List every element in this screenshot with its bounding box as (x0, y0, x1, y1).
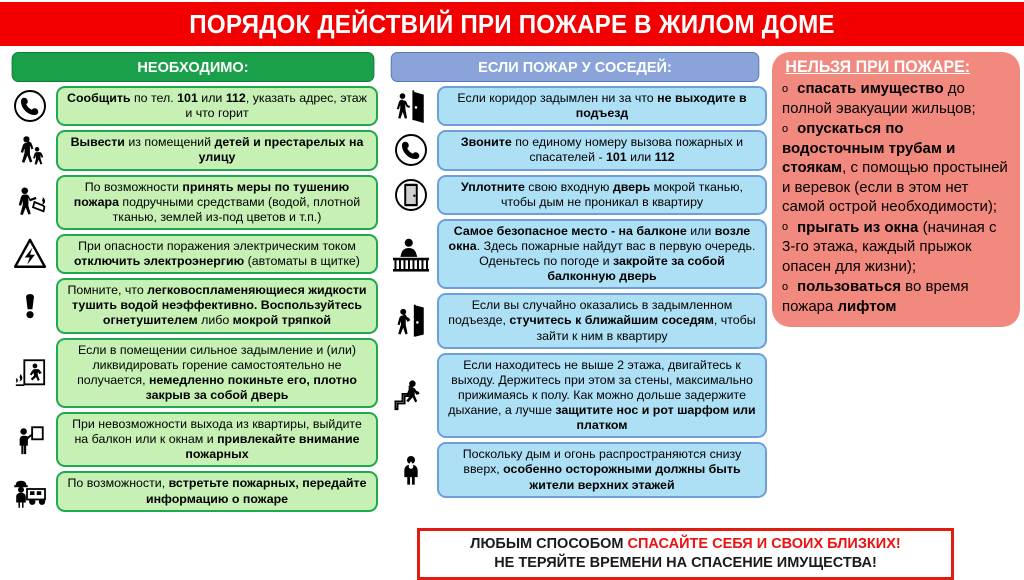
advice-text: Поскольку дым и огонь распространяются с… (437, 442, 767, 497)
advice-text: При опасности поражения электрическим то… (56, 234, 378, 274)
list-item: Звоните по единому номеру вызова пожарны… (385, 130, 767, 170)
forbidden-item: oопускаться по водосточным трубам и стоя… (782, 119, 1010, 217)
person-extinguishing-fire-icon (4, 184, 56, 220)
bottom-callout: ЛЮБЫМ СПОСОБОМ СПАСАЙТЕ СЕБЯ И СВОИХ БЛИ… (417, 528, 954, 580)
list-item: Самое безопасное место - на балконе или … (385, 219, 767, 290)
bullet-icon: o (782, 83, 788, 95)
section-heading-neighbors: ЕСЛИ ПОЖАР У СОСЕДЕЙ: (391, 52, 760, 82)
advice-text: Если коридор задымлен ни за что не выход… (437, 86, 767, 126)
advice-text: Сообщить по тел. 101 или 112, указать ад… (56, 86, 378, 126)
forbidden-item: oпрыгать из окна (начиная с 3-го этажа, … (782, 218, 1010, 277)
list-item: По возможности принять меры по тушению п… (4, 175, 378, 230)
list-item: Если коридор задымлен ни за что не выход… (385, 86, 767, 126)
advice-text: Уплотните свою входную дверь мокрой ткан… (437, 175, 767, 215)
forbidden-item: oспасать имущество до полной эвакуации ж… (782, 79, 1010, 118)
advice-text: Самое безопасное место - на балконе или … (437, 219, 767, 290)
person-at-open-door-icon (385, 88, 437, 124)
list-item: Если вы случайно оказались в задымленном… (385, 293, 767, 348)
neighbors-items-list: Если коридор задымлен ни за что не выход… (385, 86, 767, 498)
necessary-items-list: Сообщить по тел. 101 или 112, указать ад… (4, 86, 378, 512)
bullet-icon: o (782, 221, 788, 233)
person-on-balcony-icon (385, 236, 437, 272)
list-item: Сообщить по тел. 101 или 112, указать ад… (4, 86, 378, 126)
advice-text: Если в помещении сильное задымление и (и… (56, 338, 378, 409)
closed-door-icon (385, 177, 437, 213)
callout-line-2: НЕ ТЕРЯЙТЕ ВРЕМЕНИ НА СПАСЕНИЕ ИМУЩЕСТВА… (426, 554, 945, 573)
column-necessary: НЕОБХОДИМО: Сообщить по тел. 101 или 112… (4, 52, 378, 512)
person-on-stairs-icon (385, 377, 437, 413)
callout-line-1-prefix: ЛЮБЫМ СПОСОБОМ (470, 536, 627, 552)
list-item: Уплотните свою входную дверь мокрой ткан… (385, 175, 767, 215)
telephone-icon (4, 88, 56, 124)
callout-line-1-highlight: СПАСАЙТЕ СЕБЯ И СВОИХ БЛИЗКИХ! (628, 536, 901, 552)
electric-hazard-icon (4, 237, 56, 271)
advice-text: Если находитесь не выше 2 этажа, двигайт… (437, 353, 767, 439)
page-title-banner: ПОРЯДОК ДЕЙСТВИЙ ПРИ ПОЖАРЕ В ЖИЛОМ ДОМЕ (0, 2, 1024, 46)
list-item: При опасности поражения электрическим то… (4, 234, 378, 274)
list-item: Поскольку дым и огонь распространяются с… (385, 442, 767, 497)
bullet-icon: o (782, 123, 788, 135)
list-item: Если в помещении сильное задымление и (и… (4, 338, 378, 409)
advice-text: Если вы случайно оказались в задымленном… (437, 293, 767, 348)
advice-text: По возможности, встретьте пожарных, пере… (56, 471, 378, 511)
advice-text: Звоните по единому номеру вызова пожарны… (437, 130, 767, 170)
advice-text: По возможности принять меры по тушению п… (56, 175, 378, 230)
adult-leading-child-icon (4, 133, 56, 167)
forbidden-items-list: oспасать имущество до полной эвакуации ж… (782, 79, 1010, 316)
advice-text: При невозможности выхода из квартиры, вы… (56, 412, 378, 467)
callout-line-1: ЛЮБЫМ СПОСОБОМ СПАСАЙТЕ СЕБЯ И СВОИХ БЛИ… (426, 535, 945, 554)
forbidden-item: oпользоваться во время пожара лифтом (782, 277, 1010, 316)
section-heading-forbidden: НЕЛЬЗЯ ПРИ ПОЖАРЕ: (785, 58, 1006, 77)
section-heading-necessary-label: НЕОБХОДИМО: (137, 59, 248, 76)
list-item: По возможности, встретьте пожарных, пере… (4, 471, 378, 511)
exclamation-mark-icon (4, 286, 56, 326)
person-at-window-icon (4, 422, 56, 458)
page-title: ПОРЯДОК ДЕЙСТВИЙ ПРИ ПОЖАРЕ В ЖИЛОМ ДОМЕ (189, 9, 834, 40)
section-heading-neighbors-label: ЕСЛИ ПОЖАР У СОСЕДЕЙ: (478, 59, 672, 76)
list-item: Помните, что легковоспламеняющиеся жидко… (4, 278, 378, 333)
list-item: Вывести из помещений детей и престарелых… (4, 130, 378, 170)
advice-text: Помните, что легковоспламеняющиеся жидко… (56, 278, 378, 333)
forbidden-panel: НЕЛЬЗЯ ПРИ ПОЖАРЕ: oспасать имущество до… (772, 52, 1020, 327)
telephone-icon (385, 132, 437, 168)
section-heading-necessary: НЕОБХОДИМО: (12, 52, 375, 82)
firefighter-truck-icon (4, 474, 56, 510)
column-forbidden: НЕЛЬЗЯ ПРИ ПОЖАРЕ: oспасать имущество до… (772, 52, 1020, 327)
list-item: Если находитесь не выше 2 этажа, двигайт… (385, 353, 767, 439)
person-knocking-door-icon (385, 302, 437, 340)
column-neighbors-fire: ЕСЛИ ПОЖАР У СОСЕДЕЙ: Если коридор задым… (385, 52, 767, 498)
bullet-icon: o (782, 281, 788, 293)
advice-text: Вывести из помещений детей и престарелых… (56, 130, 378, 170)
fire-exit-running-icon (4, 356, 56, 390)
person-covering-face-icon (385, 451, 437, 489)
list-item: При невозможности выхода из квартиры, вы… (4, 412, 378, 467)
